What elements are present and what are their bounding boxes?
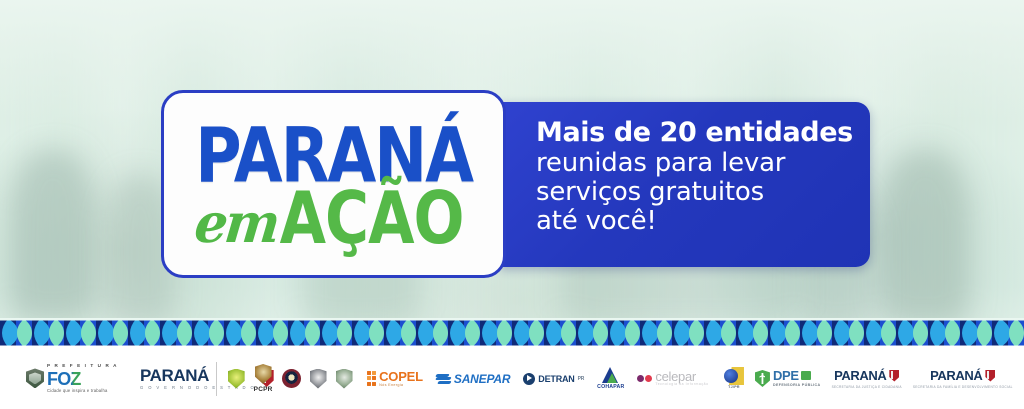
message-line-3: serviços gratuitos xyxy=(536,178,870,207)
cohapar-roof-icon xyxy=(602,367,619,383)
parana-sec-1-wordmark: PARANÁ xyxy=(834,368,886,383)
logo-group-security: PCPR xyxy=(228,348,353,409)
strip-divider-2 xyxy=(712,362,713,396)
detran-state-suffix: PR xyxy=(578,376,585,382)
parana-sec-2-row: PARANÁ xyxy=(930,368,995,383)
message-line-2: reunidas para levar xyxy=(536,149,870,178)
foz-text: P R E F E I T U R A FOZ Cidade que inspi… xyxy=(47,364,118,393)
policia-cientifica-shield-icon xyxy=(336,369,353,389)
bombeiros-shield-icon xyxy=(282,369,301,388)
parana-sec-2-wordmark: PARANÁ xyxy=(930,368,982,383)
background-blob-left xyxy=(10,150,96,320)
bombeiros-badge-logo xyxy=(282,369,301,388)
cohapar-wordmark: COHAPAR xyxy=(597,385,624,390)
sanepar-logo: SANEPAR xyxy=(436,372,510,386)
dpe-top-row: DPE xyxy=(773,369,821,382)
parana-sec-1-row: PARANÁ xyxy=(834,368,899,383)
detran-wordmark: DETRAN xyxy=(538,374,574,384)
dpe-shield-icon xyxy=(755,370,770,387)
dpe-text: DPE DEFENSORIA PÚBLICA xyxy=(773,369,821,387)
celepar-text: celepar Tecnologia da Informação xyxy=(655,370,708,386)
parana-secretaria-justica-logo: PARANÁ SECRETARIA DA JUSTIÇA E CIDADANIA xyxy=(832,368,902,389)
parana-em-acao-banner: Mais de 20 entidades reunidas para levar… xyxy=(0,0,1024,409)
sanepar-waves-icon xyxy=(436,373,451,385)
partner-logo-strip: P R E F E I T U R A FOZ Cidade que inspi… xyxy=(0,348,1024,409)
pmpr-shield-icon xyxy=(228,369,245,389)
logo-group-municipal: P R E F E I T U R A FOZ Cidade que inspi… xyxy=(0,348,190,409)
parana-sec-2-shield-icon xyxy=(985,370,995,382)
message-line-4: até você! xyxy=(536,207,870,236)
pcpr-label: PCPR xyxy=(254,386,273,393)
background-blob-right xyxy=(880,150,970,325)
logo-artwork: PARANÁ em AÇÃO xyxy=(164,93,503,275)
foz-prefix: P R E F E I T U R A xyxy=(47,364,118,369)
tjpr-emblem-icon xyxy=(724,367,744,385)
parana-em-acao-logo-card: PARANÁ em AÇÃO xyxy=(161,90,506,278)
foz-tagline: Cidade que inspira e trabalha xyxy=(47,389,118,393)
logo-group-justice: TJ/PR DPE DEFENSORIA PÚBLICA PARANÁ SEC xyxy=(724,348,1024,409)
strip-divider-1 xyxy=(216,362,217,396)
celepar-dots-icon xyxy=(637,375,652,382)
cohapar-logo: COHAPAR xyxy=(597,367,624,390)
foz-coat-of-arms-icon xyxy=(26,368,44,388)
logo-group-utilities: COPEL Nós Energia SANEPAR DETRAN PR COHA… xyxy=(367,348,696,409)
dpe-tagline: DEFENSORIA PÚBLICA xyxy=(773,384,821,388)
policia-penal-shield-icon xyxy=(310,369,327,389)
dpe-square-icon xyxy=(801,371,811,380)
petal-pattern-band xyxy=(0,318,1024,348)
policia-cientifica-badge-logo xyxy=(336,369,353,389)
parana-sec-1-shield-icon xyxy=(889,370,899,382)
parana-secretaria-familia-logo: PARANÁ SECRETARIA DA FAMÍLIA E DESENVOLV… xyxy=(913,368,1013,389)
logo-word-acao: AÇÃO xyxy=(280,189,464,250)
copel-tagline: Nós Energia xyxy=(379,384,423,388)
copel-logo: COPEL Nós Energia xyxy=(367,370,423,388)
logo-word-em: em xyxy=(193,202,280,246)
detran-logo: DETRAN PR xyxy=(523,373,584,385)
message-line-1: Mais de 20 entidades xyxy=(536,118,870,149)
message-panel: Mais de 20 entidades reunidas para levar… xyxy=(500,102,870,267)
parana-sec-2-subtitle: SECRETARIA DA FAMÍLIA E DESENVOLVIMENTO … xyxy=(913,385,1013,389)
copel-wordmark: COPEL xyxy=(379,370,423,383)
sanepar-wordmark: SANEPAR xyxy=(454,372,510,386)
celepar-logo: celepar Tecnologia da Informação xyxy=(637,370,708,386)
dpe-logo: DPE DEFENSORIA PÚBLICA xyxy=(755,369,821,387)
celepar-tagline: Tecnologia da Informação xyxy=(655,383,708,386)
copel-text: COPEL Nós Energia xyxy=(379,370,423,388)
detran-arrow-icon xyxy=(523,373,535,385)
policia-penal-badge-logo xyxy=(310,369,327,389)
tjpr-label: TJ/PR xyxy=(728,386,740,390)
pmpr-badge-logo xyxy=(228,369,245,389)
parana-sec-1-subtitle: SECRETARIA DA JUSTIÇA E CIDADANIA xyxy=(832,385,902,389)
tjpr-logo: TJ/PR xyxy=(724,367,744,390)
logo-line-2: em AÇÃO xyxy=(195,194,463,245)
copel-dots-icon xyxy=(367,371,377,386)
dpe-wordmark: DPE xyxy=(773,369,799,382)
prefeitura-foz-logo: P R E F E I T U R A FOZ Cidade que inspi… xyxy=(26,364,118,393)
foz-wordmark: FOZ xyxy=(47,370,118,388)
